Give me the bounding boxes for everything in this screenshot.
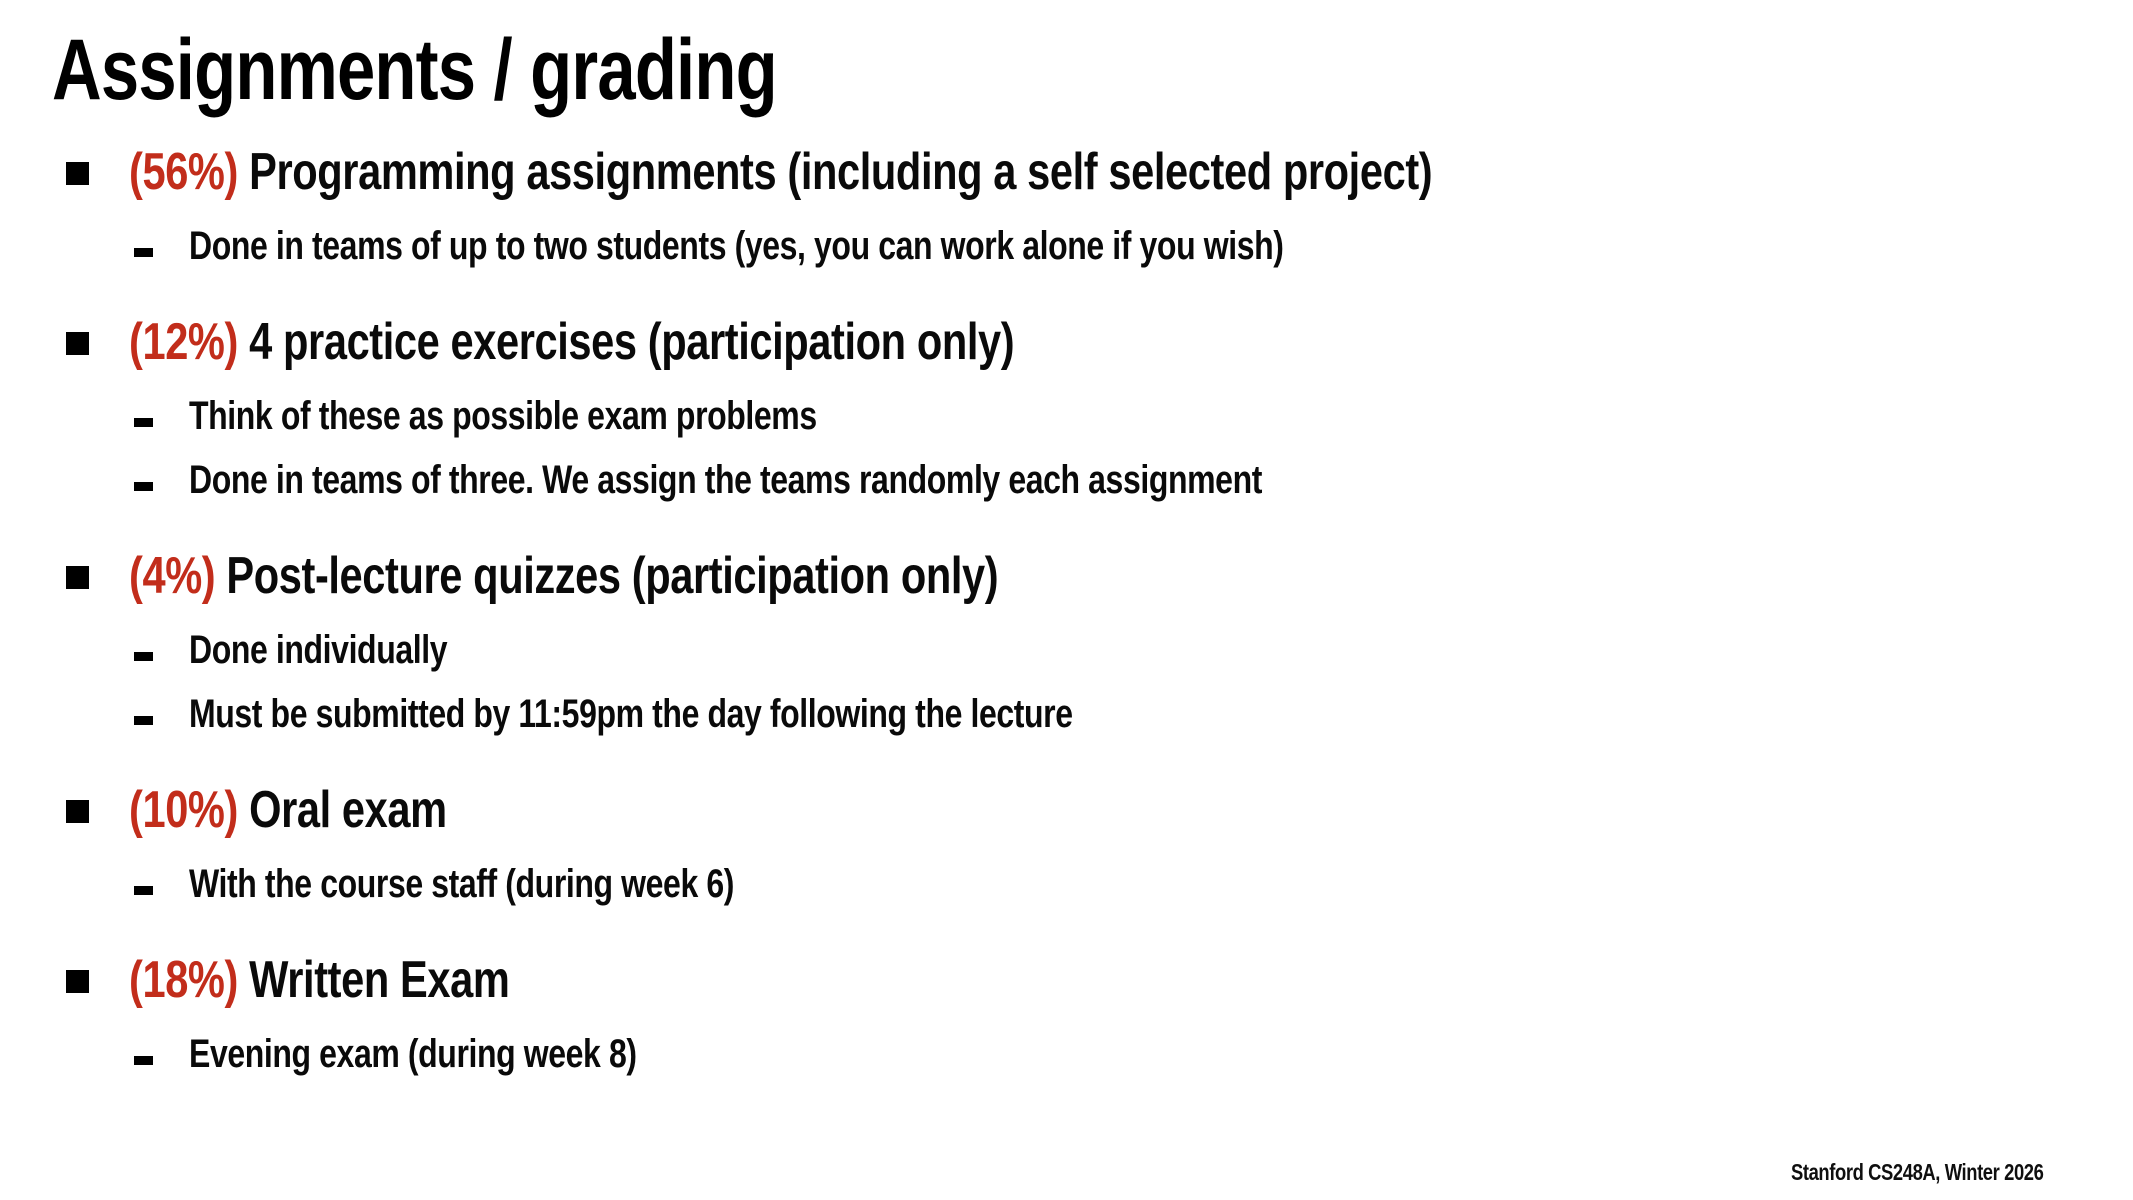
list-item-level1-text: (10%) Oral exam [129, 778, 2133, 842]
list-item-level2: Must be submitted by 11:59pm the day fol… [0, 688, 2133, 742]
list-item-level2: Evening exam (during week 8) [0, 1028, 2133, 1082]
list-item-level2: With the course staff (during week 6) [0, 858, 2133, 912]
list-item-level2: Done individually [0, 624, 2133, 678]
item-heading: Written Exam [249, 951, 509, 1009]
list-item-level1: (4%) Post-lecture quizzes (participation… [0, 544, 2133, 608]
grading-item-group: (10%) Oral exam With the course staff (d… [0, 778, 2133, 912]
list-item-level1-text: (4%) Post-lecture quizzes (participation… [129, 544, 2133, 608]
square-bullet-icon [66, 800, 89, 823]
dash-bullet-icon [134, 886, 153, 895]
list-item-level1: (12%) 4 practice exercises (participatio… [0, 310, 2133, 374]
square-bullet-icon [66, 162, 89, 185]
spacer [0, 742, 2133, 778]
list-item-level2-text: Done individually [189, 624, 2133, 676]
percent-weight: (4%) [129, 547, 215, 605]
dash-bullet-icon [134, 1056, 153, 1065]
grading-item-group: (12%) 4 practice exercises (participatio… [0, 310, 2133, 508]
dash-bullet-icon [134, 716, 153, 725]
list-item-level1-text: (12%) 4 practice exercises (participatio… [129, 310, 2133, 374]
slide-footer: Stanford CS248A, Winter 2026 [1791, 1159, 2107, 1186]
item-heading: Oral exam [249, 781, 447, 839]
list-item-level1: (18%) Written Exam [0, 948, 2133, 1012]
list-item-level2-text: With the course staff (during week 6) [189, 858, 2133, 910]
square-bullet-icon [66, 566, 89, 589]
list-item-level2: Done in teams of three. We assign the te… [0, 454, 2133, 508]
list-item-level1-text: (18%) Written Exam [129, 948, 2133, 1012]
percent-weight: (18%) [129, 951, 238, 1009]
percent-weight: (10%) [129, 781, 238, 839]
spacer [0, 912, 2133, 948]
square-bullet-icon [66, 332, 89, 355]
spacer [0, 274, 2133, 310]
dash-bullet-icon [134, 652, 153, 661]
dash-bullet-icon [134, 248, 153, 257]
bullet-list: (56%) Programming assignments (including… [0, 140, 2133, 1082]
page-title: Assignments / grading [52, 27, 777, 113]
spacer [0, 204, 2133, 220]
spacer [0, 1012, 2133, 1028]
slide-title-container: Assignments / grading [52, 22, 958, 118]
slide: Assignments / grading (56%) Programming … [0, 0, 2133, 1200]
list-item-level2-text: Must be submitted by 11:59pm the day fol… [189, 688, 2133, 740]
dash-bullet-icon [134, 418, 153, 427]
item-heading: 4 practice exercises (participation only… [249, 313, 1014, 371]
spacer [0, 608, 2133, 624]
list-item-level2: Think of these as possible exam problems [0, 390, 2133, 444]
spacer [0, 508, 2133, 544]
list-item-level1: (56%) Programming assignments (including… [0, 140, 2133, 204]
dash-bullet-icon [134, 482, 153, 491]
spacer [0, 678, 2133, 688]
list-item-level2-text: Done in teams of up to two students (yes… [189, 220, 2133, 272]
list-item-level1-text: (56%) Programming assignments (including… [129, 140, 2133, 204]
list-item-level2-text: Think of these as possible exam problems [189, 390, 2133, 442]
item-heading: Post-lecture quizzes (participation only… [226, 547, 998, 605]
spacer [0, 842, 2133, 858]
footer-text: Stanford CS248A, Winter 2026 [1791, 1159, 2043, 1186]
square-bullet-icon [66, 970, 89, 993]
grading-item-group: (56%) Programming assignments (including… [0, 140, 2133, 274]
list-item-level2-text: Evening exam (during week 8) [189, 1028, 2133, 1080]
percent-weight: (12%) [129, 313, 238, 371]
spacer [0, 444, 2133, 454]
spacer [0, 374, 2133, 390]
list-item-level1: (10%) Oral exam [0, 778, 2133, 842]
list-item-level2: Done in teams of up to two students (yes… [0, 220, 2133, 274]
grading-item-group: (4%) Post-lecture quizzes (participation… [0, 544, 2133, 742]
grading-item-group: (18%) Written Exam Evening exam (during … [0, 948, 2133, 1082]
percent-weight: (56%) [129, 143, 238, 201]
list-item-level2-text: Done in teams of three. We assign the te… [189, 454, 2133, 506]
item-heading: Programming assignments (including a sel… [249, 143, 1432, 201]
